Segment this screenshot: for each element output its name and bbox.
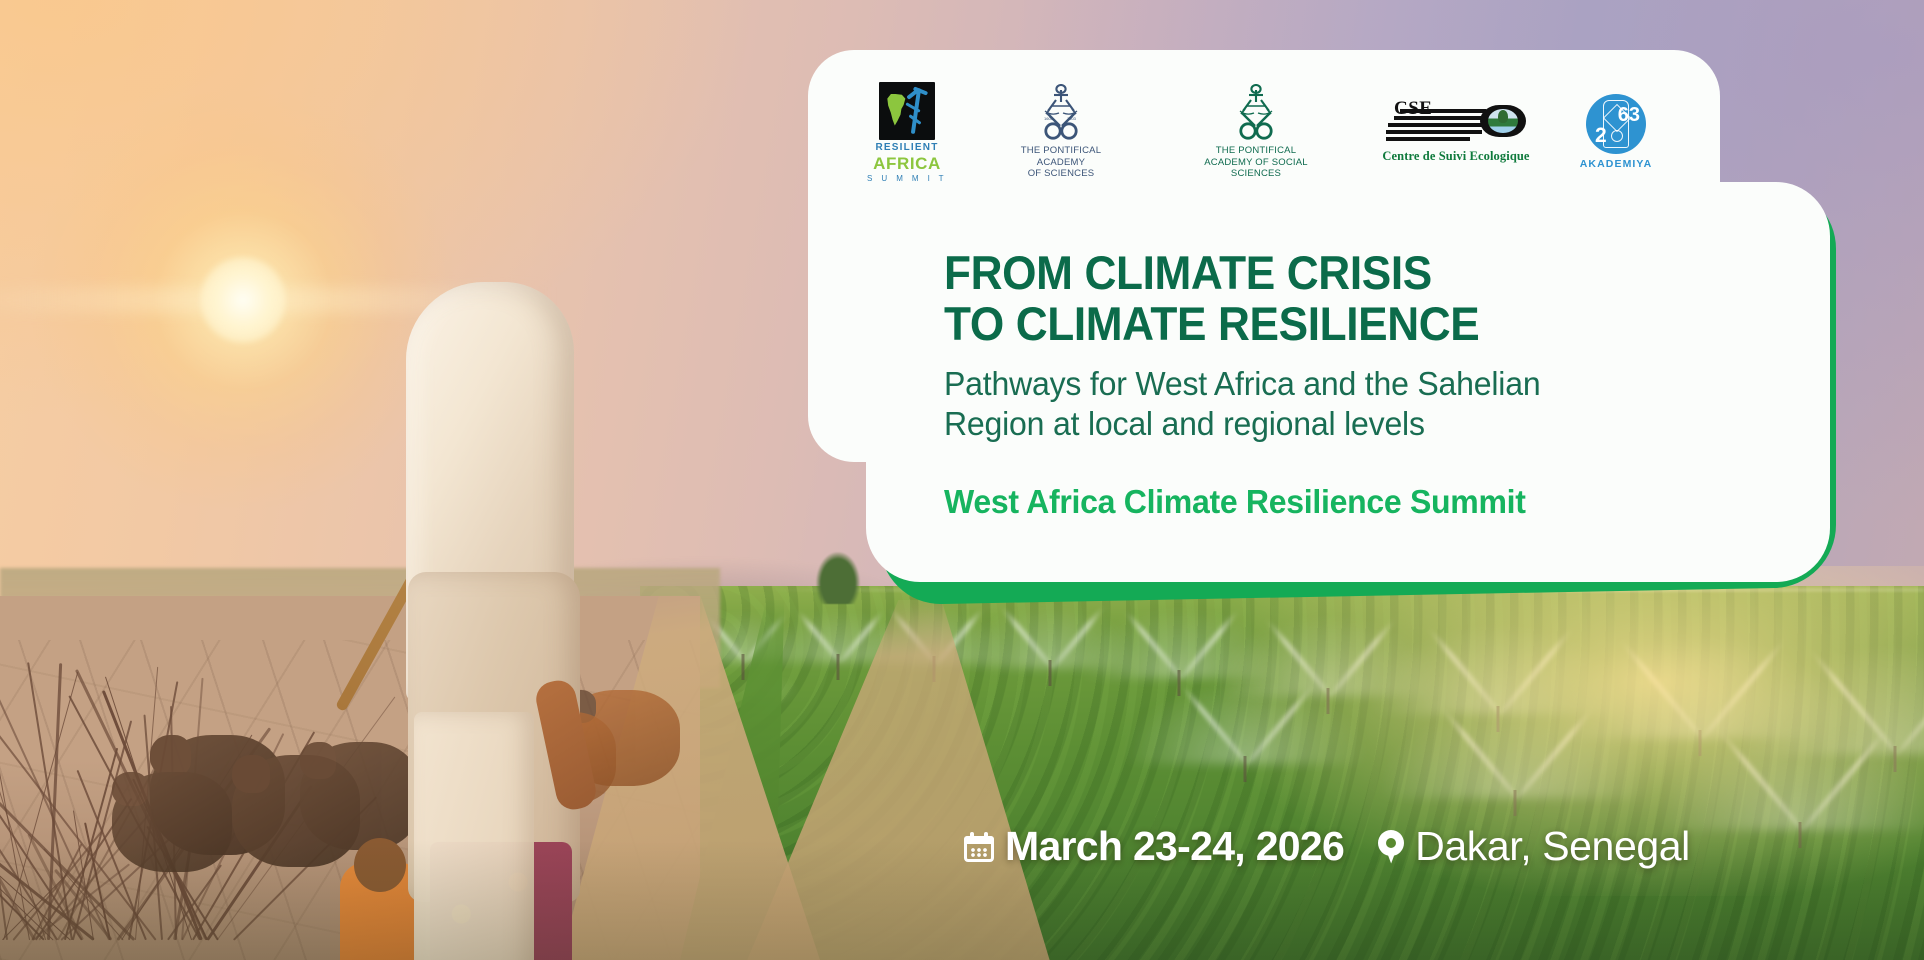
logo-caption: THE PONTIFICAL ACADEMY OF SOCIAL SCIENCE… bbox=[1176, 145, 1336, 181]
logo-line-1: RESILIENT bbox=[875, 143, 938, 153]
banner-content: RESILIENT AFRICA S U M M I T bbox=[0, 0, 1924, 960]
papal-keys-icon: 16031603 bbox=[1034, 84, 1088, 140]
partner-logos-row: RESILIENT AFRICA S U M M I T bbox=[828, 78, 1708, 186]
logo-line-3: S U M M I T bbox=[867, 175, 947, 183]
subtitle-line-2: Region at local and regional levels bbox=[944, 404, 1720, 444]
headline-block: FROM CLIMATE CRISIS TO CLIMATE RESILIENC… bbox=[944, 248, 1744, 444]
logo-caption: THE PONTIFICAL ACADEMY OF SCIENCES bbox=[986, 145, 1136, 181]
logo-number-left: 2 bbox=[1595, 125, 1607, 146]
logo-caption: Centre de Suivi Ecologique bbox=[1382, 149, 1529, 164]
logo-pontifical-academy-of-sciences[interactable]: 16031603 THE PONTIFICAL ACADEMY OF SCIEN… bbox=[966, 84, 1156, 181]
event-location-text: Dakar, Senegal bbox=[1415, 826, 1690, 867]
resilient-africa-summit-logo-icon bbox=[879, 82, 935, 140]
svg-text:1603: 1603 bbox=[1067, 116, 1077, 121]
cse-acronym: CSE bbox=[1394, 99, 1432, 118]
papal-keys-icon bbox=[1229, 84, 1283, 140]
akademiya2063-logo-icon: 2 63 bbox=[1586, 94, 1646, 154]
svg-text:1603: 1603 bbox=[1044, 116, 1054, 121]
event-meta: March 23-24, 2026 Dakar, Senegal bbox=[964, 826, 1690, 867]
logo-line-2: AFRICA bbox=[873, 155, 941, 172]
title-line-1: FROM CLIMATE CRISIS bbox=[944, 248, 1696, 299]
logo-resilient-africa-summit[interactable]: RESILIENT AFRICA S U M M I T bbox=[848, 82, 966, 183]
map-pin-icon bbox=[1378, 830, 1404, 864]
bird-icon bbox=[904, 88, 930, 136]
event-location: Dakar, Senegal bbox=[1378, 826, 1690, 867]
title-line-2: TO CLIMATE RESILIENCE bbox=[944, 299, 1696, 350]
logo-caption: AKADEMIYA bbox=[1580, 159, 1653, 170]
calendar-icon bbox=[964, 832, 994, 862]
logo-centre-de-suivi-ecologique[interactable]: CSE Centre de Suivi Ecologique bbox=[1356, 101, 1556, 164]
event-date-text: March 23-24, 2026 bbox=[1005, 826, 1344, 867]
event-date: March 23-24, 2026 bbox=[964, 826, 1344, 867]
event-name: West Africa Climate Resilience Summit bbox=[944, 484, 1526, 520]
logo-akademiya2063[interactable]: 2 63 AKADEMIYA bbox=[1556, 94, 1676, 170]
cse-eye-icon: CSE bbox=[1386, 101, 1526, 145]
subtitle-line-1: Pathways for West Africa and the Sahelia… bbox=[944, 364, 1720, 404]
logo-number-right: 63 bbox=[1618, 105, 1640, 125]
cse-eye-shape bbox=[1480, 105, 1526, 137]
logo-pontifical-academy-of-social-sciences[interactable]: THE PONTIFICAL ACADEMY OF SOCIAL SCIENCE… bbox=[1156, 84, 1356, 181]
